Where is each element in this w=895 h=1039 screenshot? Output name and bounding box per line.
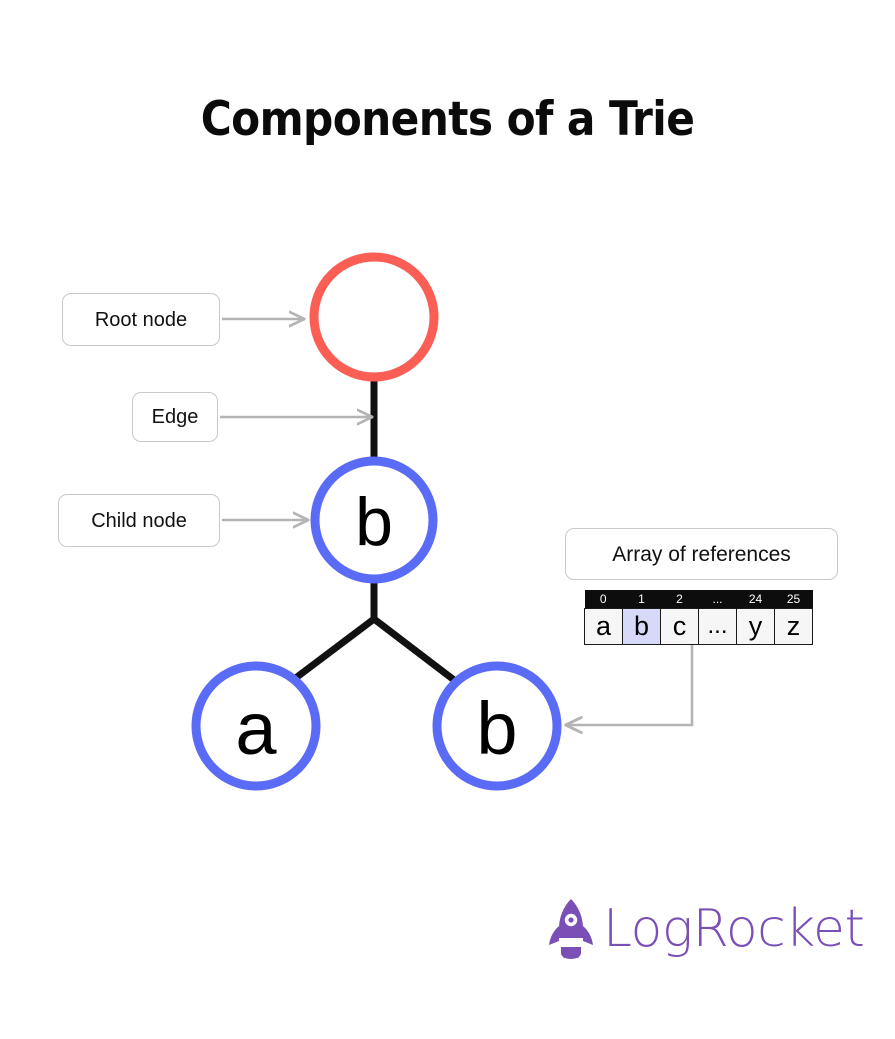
array-index-cell: 2 [661,590,699,608]
node-label-b-middle: b [310,488,438,556]
diagram-canvas: Components of a Trie [0,0,895,1039]
array-value-cell: ... [699,608,737,644]
array-of-references-table: 0 1 2 ... 24 25 a b c ... y z [584,590,813,645]
array-value-cell: a [585,608,623,644]
callout-edge: Edge [132,392,218,442]
edge-fork-to-a [289,619,374,683]
array-index-row: 0 1 2 ... 24 25 [585,590,813,608]
node-label-b-leaf: b [432,692,562,766]
callout-connectors [220,319,692,725]
edge-fork-to-b [374,619,458,683]
node-label-a-leaf: a [191,692,321,766]
callout-array-of-references: Array of references [565,528,838,580]
array-value-cell-highlighted: b [623,608,661,644]
array-value-cell: y [737,608,775,644]
array-value-cell: z [775,608,813,644]
array-index-cell: 1 [623,590,661,608]
connector-array-to-b-leaf [566,644,692,725]
callout-child-node: Child node [58,494,220,547]
array-index-cell: ... [699,590,737,608]
array-index-cell: 25 [775,590,813,608]
node-root [314,257,434,377]
array-index-cell: 24 [737,590,775,608]
logrocket-wordmark: LogRocket [603,903,864,955]
array-value-row: a b c ... y z [585,608,813,644]
array-value-cell: c [661,608,699,644]
rocket-icon [548,898,594,960]
logrocket-logo: LogRocket [548,898,864,960]
array-index-cell: 0 [585,590,623,608]
callout-root-node: Root node [62,293,220,346]
